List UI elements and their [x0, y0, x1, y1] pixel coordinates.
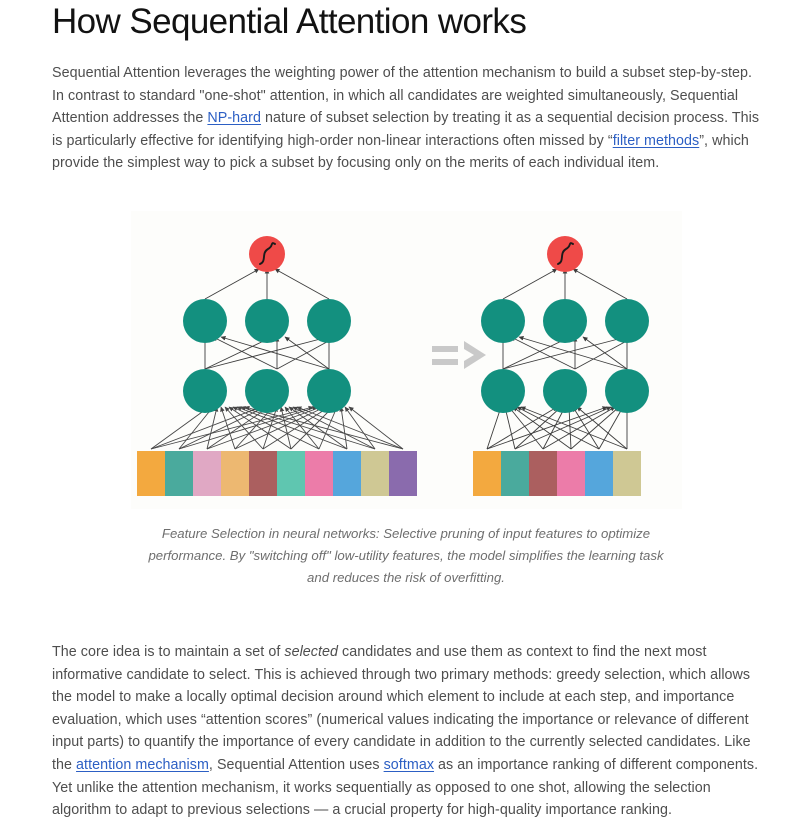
paragraph-text: candidates and use them as context to fi…: [52, 644, 751, 773]
figure-caption: Feature Selection in neural networks: Se…: [148, 523, 664, 589]
article-body: How Sequential Attention works Sequentia…: [0, 0, 800, 822]
inline-link[interactable]: filter methods: [613, 133, 700, 149]
emphasis-text: selected: [284, 644, 338, 660]
intro-paragraph: Sequential Attention leverages the weigh…: [52, 62, 768, 175]
figure-image: [131, 211, 682, 509]
inline-link[interactable]: softmax: [384, 757, 434, 773]
section-spacer: [52, 589, 760, 641]
page-title: How Sequential Attention works: [52, 0, 760, 42]
right-feature-strip: [473, 451, 641, 496]
left-feature-strip: [137, 451, 417, 496]
left-hidden-layer-2-nodes: [183, 299, 351, 343]
right-sigmoid-output-node: [547, 236, 583, 272]
feature-selection-figure: Feature Selection in neural networks: Se…: [52, 211, 760, 589]
article-page: How Sequential Attention works Sequentia…: [0, 0, 800, 784]
right-hidden-layer-2-nodes: [481, 299, 649, 343]
paragraph-text: , Sequential Attention uses: [209, 757, 384, 773]
neural-network-diagram: [131, 211, 682, 509]
inline-link[interactable]: attention mechanism: [76, 757, 209, 773]
core-idea-paragraph: The core idea is to maintain a set of se…: [52, 641, 766, 822]
inline-link[interactable]: NP-hard: [207, 110, 261, 126]
paragraph-text: The core idea is to maintain a set of: [52, 644, 284, 660]
left-hidden-layer-1-nodes: [183, 369, 351, 413]
left-sigmoid-output-node: [249, 236, 285, 272]
figure-caption-text: Feature Selection in neural networks: Se…: [148, 523, 664, 589]
right-hidden-layer-1-nodes: [481, 369, 649, 413]
